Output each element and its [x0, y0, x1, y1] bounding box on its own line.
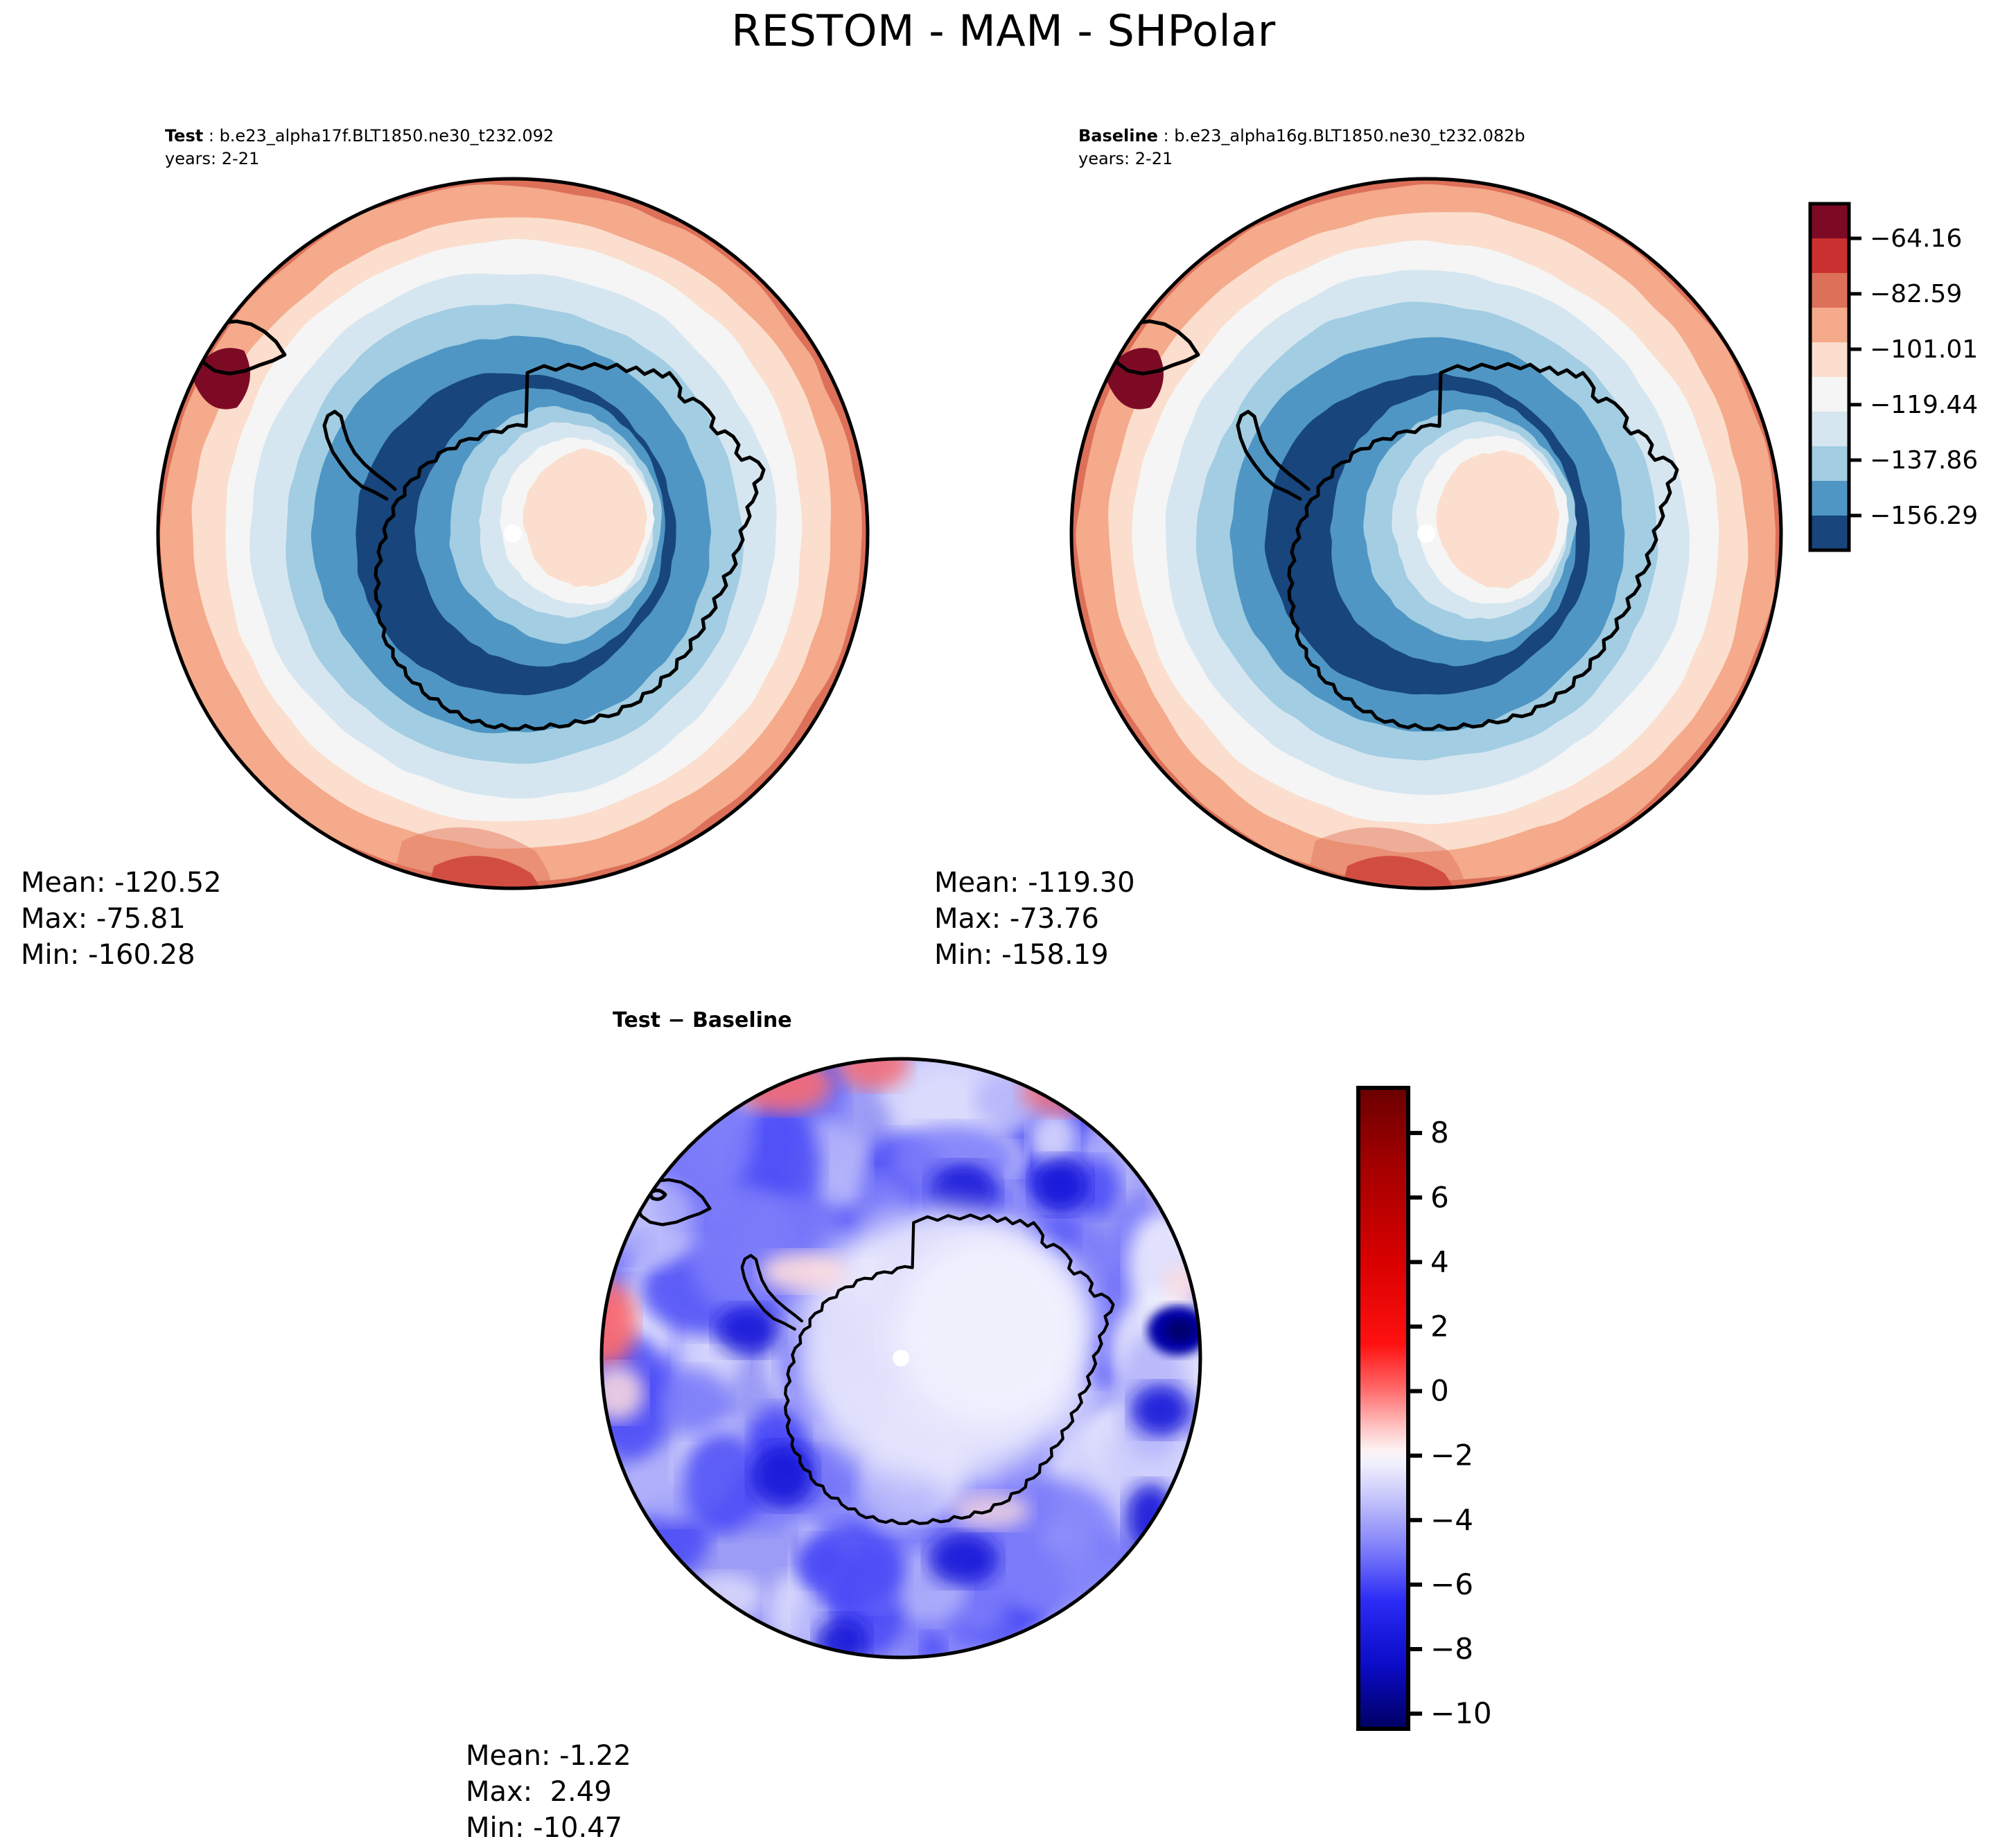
colorbar-shared-band-9 — [1810, 516, 1849, 551]
colorbar-shared-band-5 — [1810, 377, 1849, 412]
role-label-test: Test — [165, 126, 203, 146]
difference-blob — [921, 1633, 946, 1664]
difference-blob-deep-blue — [716, 1305, 782, 1355]
map-panel-test — [125, 146, 901, 922]
colorbar-difference-ticklabel-7: −6 — [1430, 1567, 1473, 1601]
difference-blob — [1008, 1548, 1071, 1610]
colorbar-difference-ticklabel-8: −8 — [1430, 1632, 1473, 1666]
colorbar-shared-bands — [1810, 204, 1849, 551]
role-label-baseline: Baseline — [1078, 126, 1158, 146]
difference-blob — [1028, 1109, 1076, 1166]
difference-blob-deep-blue — [816, 1617, 869, 1668]
map-panel-difference — [575, 1032, 1227, 1725]
colorbar-shared-band-8 — [1810, 481, 1849, 516]
figure-canvas: RESTOM - MAM - SHPolar Test : b.e23_alph… — [0, 0, 2007, 1848]
panel-caption-difference: Test − Baseline — [613, 1008, 792, 1032]
difference-blob-positive — [1152, 1165, 1218, 1212]
difference-minimum-core — [1164, 1319, 1195, 1342]
difference-blob-positive — [837, 1042, 909, 1089]
colorbar-difference-gradient — [1358, 1088, 1408, 1729]
difference-blob-deep-blue — [751, 1444, 815, 1508]
difference-blob — [1128, 1211, 1199, 1321]
colorbar-shared-band-3 — [1810, 308, 1849, 343]
difference-blob-positive — [1094, 1095, 1166, 1136]
colorbar-difference-ticklabel-3: 2 — [1430, 1309, 1449, 1343]
difference-blob — [663, 1369, 730, 1435]
colorbar-difference-ticklabel-9: −10 — [1430, 1696, 1492, 1730]
colorbar-difference-svg: 86420−2−4−6−8−10 — [1355, 1084, 1535, 1736]
difference-blob-positive — [761, 1252, 847, 1291]
colorbar-shared-ticklabel-5: −156.29 — [1870, 502, 1978, 530]
colorbar-shared-band-2 — [1810, 273, 1849, 308]
caption-line-case-baseline: Baseline : b.e23_alpha16g.BLT1850.ne30_t… — [1078, 125, 1525, 148]
colorbar-shared-band-4 — [1810, 342, 1849, 378]
colorbar-difference-ticklabel-2: 4 — [1430, 1244, 1449, 1278]
case-name-baseline: b.e23_alpha16g.BLT1850.ne30_t232.082b — [1174, 126, 1525, 146]
south-pole-marker-difference — [893, 1350, 909, 1366]
colorbar-shared: −64.16−82.59−101.01−119.44−137.86−156.29 — [1807, 201, 2007, 554]
caption-separator-baseline: : — [1158, 126, 1174, 146]
south-pole-marker-test — [504, 525, 522, 543]
colorbar-difference-ticklabel-6: −4 — [1430, 1503, 1473, 1537]
map-panel-baseline — [1038, 146, 1814, 922]
colorbar-shared-svg: −64.16−82.59−101.01−119.44−137.86−156.29 — [1807, 201, 2007, 554]
difference-blob — [674, 1080, 755, 1190]
difference-blob-positive — [589, 1365, 645, 1420]
colorbar-shared-ticklabel-1: −82.59 — [1870, 280, 1962, 308]
colorbar-difference-ticklabel-0: 8 — [1430, 1116, 1449, 1150]
colorbar-difference-ticklabel-5: −2 — [1430, 1438, 1473, 1472]
difference-blob-deep-blue — [1032, 1157, 1089, 1213]
case-name-test: b.e23_alpha17f.BLT1850.ne30_t232.092 — [220, 126, 554, 146]
colorbar-difference: 86420−2−4−6−8−10 — [1355, 1084, 1535, 1736]
caption-line-case-test: Test : b.e23_alpha17f.BLT1850.ne30_t232.… — [165, 125, 554, 148]
south-pole-marker-baseline — [1417, 525, 1435, 543]
colorbar-shared-band-0 — [1810, 204, 1849, 239]
difference-interior-white — [894, 1233, 1088, 1427]
difference-blob — [796, 1535, 850, 1586]
colorbar-difference-ticklabel-1: 6 — [1430, 1180, 1449, 1214]
colorbar-shared-ticklabel-4: −137.86 — [1870, 446, 1978, 475]
colorbar-shared-band-1 — [1810, 238, 1849, 274]
difference-blob-deep-blue — [928, 1533, 999, 1585]
difference-blob-deep-blue — [1131, 1384, 1191, 1436]
colorbar-difference-ticks: 86420−2−4−6−8−10 — [1408, 1116, 1492, 1730]
colorbar-shared-ticklabel-2: −101.01 — [1870, 335, 1978, 364]
colorbar-shared-ticks: −64.16−82.59−101.01−119.44−137.86−156.29 — [1849, 225, 1978, 530]
colorbar-shared-ticklabel-3: −119.44 — [1870, 391, 1978, 419]
colorbar-shared-band-7 — [1810, 446, 1849, 482]
difference-blob-positive — [576, 1281, 637, 1366]
colorbar-difference-ticklabel-4: 0 — [1430, 1374, 1449, 1408]
stats-block-difference: Mean: -1.22 Max: 2.49 Min: -10.47 — [466, 1738, 631, 1846]
colorbar-shared-ticklabel-0: −64.16 — [1870, 225, 1962, 253]
colorbar-shared-band-6 — [1810, 412, 1849, 447]
difference-blob-deep-blue — [979, 1708, 1058, 1725]
difference-field — [575, 1032, 1227, 1725]
page-title: RESTOM - MAM - SHPolar — [0, 6, 2007, 56]
caption-separator-test: : — [203, 126, 219, 146]
